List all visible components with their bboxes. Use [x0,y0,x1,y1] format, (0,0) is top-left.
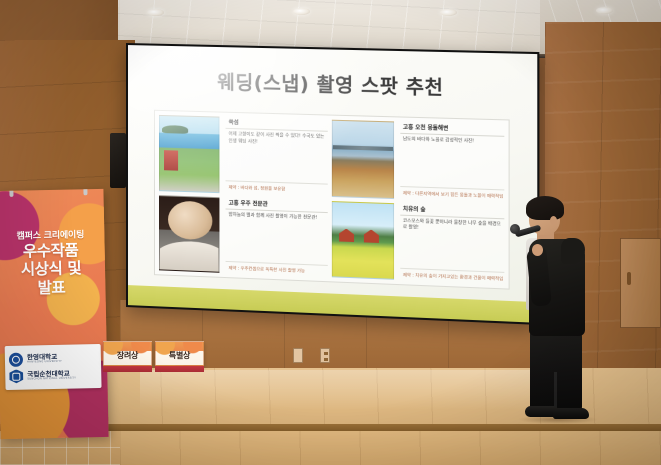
award-placard: 장려상 [103,341,152,366]
slide-content-grid: 쑥섬 어제 고향이도 같이 사진 찍을 수 있다! 수국도 있는 인생 웨딩 사… [154,110,510,290]
university-logo-text: 한영대학교 HANYEONG UNIVERSITY [27,354,62,364]
slide-cell-note: 제약 : 다른지역에서 보기 힘든 몽돌과 노을이 매력적임 [400,187,505,202]
slide-cell: 쑥섬 어제 고향이도 같이 사진 찍을 수 있다! 수국도 있는 인생 웨딩 사… [159,115,327,196]
slide-title: 웨딩(스냅) 촬영 스팟 추천 [128,65,537,103]
presenter [505,196,597,428]
award-placard-stand [103,366,152,372]
banner-logo-strip: 한영대학교 HANYEONG UNIVERSITY 국립순천대학교 SUNCHO… [5,344,102,390]
banner-hook-icon [83,189,87,195]
slide-cell: 고흥 오천 몽돌해변 남도의 바다와 노을로 감성적인 사진! 제약 : 다른지… [331,120,504,203]
award-placard: 특별상 [155,341,204,366]
wall-speaker-icon [110,133,126,188]
slide-cell-body: 어제 고향이도 같이 사진 찍을 수 있다! 수국도 있는 인생 웨딩 사진! [226,129,328,185]
university-name-en: HANYEONG UNIVERSITY [27,360,62,363]
university-name-en: SUNCHON NATIONAL UNIVERSITY [27,377,76,381]
presenter-ear [550,216,557,225]
moon-observatory-photo [159,195,219,273]
slide-cell-note: 제약 : 바다와 섬, 정원을 보유함 [226,181,328,196]
award-placard-stand [155,366,204,372]
slide-cell: 고흥 우주 전문관 밤하늘의 별과 함께 사진 촬영이 가능한 천문관! 제약 … [159,195,327,277]
projected-slide: 웨딩(스냅) 촬영 스팟 추천 쑥섬 어제 고향이도 같이 사진 찍을 수 있다… [128,45,537,323]
ceiling-light-icon [596,7,613,14]
slide-cell-text: 치유의 숲 코스모스와 들꽃 뿐아니라 울창한 나무 숲을 배경으로 촬영! 제… [398,203,505,284]
banner-hook-icon [9,189,13,197]
hanyeong-emblem-icon [9,352,23,366]
ceiling-light-icon [293,8,310,15]
banner-subtitle: 캠퍼스 크리에이팅 [0,227,104,242]
slide-cell-body: 밤하늘의 별과 함께 사진 촬영이 가능한 천문관! [226,209,328,266]
projection-screen: 웨딩(스냅) 촬영 스팟 추천 쑥섬 어제 고향이도 같이 사진 찍을 수 있다… [126,43,539,325]
slide-cell: 치유의 숲 코스모스와 들꽃 뿐아니라 울창한 나무 숲을 배경으로 촬영! 제… [331,201,504,285]
slide-cell-text: 고흥 오천 몽돌해변 남도의 바다와 노을로 감성적인 사진! 제약 : 다른지… [398,122,505,203]
door-handle-icon[interactable] [627,272,631,285]
light-switch-icon[interactable] [293,348,303,363]
award-placard-label: 특별상 [169,350,190,361]
banner-title: 우수작품 시상식 및 발표 [0,241,106,298]
event-banner: 캠퍼스 크리에이팅 우수작품 시상식 및 발표 한영대학교 HANYEONG U… [0,189,109,439]
presenter-hand [532,244,543,256]
pebble-beach-sunset-photo [331,120,393,199]
slide-cell-body: 남도의 바다와 노을로 감성적인 사진! [400,134,505,191]
slide-cell-body: 코스모스와 들꽃 뿐아니라 울창한 나무 숲을 배경으로 촬영! [400,215,505,272]
slide-cell-text: 고흥 우주 전문관 밤하늘의 별과 함께 사진 촬영이 가능한 천문관! 제약 … [224,197,328,277]
ceiling-light-icon [147,9,164,16]
power-outlet-icon [320,348,330,363]
auditorium-scene: 웨딩(스냅) 촬영 스팟 추천 쑥섬 어제 고향이도 같이 사진 찍을 수 있다… [0,0,661,465]
presenter-shoe-right [553,408,589,419]
slide-cell-text: 쑥섬 어제 고향이도 같이 사진 찍을 수 있다! 수국도 있는 인생 웨딩 사… [224,117,328,197]
presenter-hair [526,196,564,220]
award-placard-label: 장려상 [117,350,138,361]
university-logo: 국립순천대학교 SUNCHON NATIONAL UNIVERSITY [9,368,97,384]
island-sea-garden-photo [159,115,219,193]
ceiling-light-icon [440,9,457,16]
forest-cabins-flower-field-photo [331,201,393,280]
university-logo-text: 국립순천대학교 SUNCHON NATIONAL UNIVERSITY [27,370,76,380]
sunchon-emblem-icon [9,369,23,383]
university-logo: 한영대학교 HANYEONG UNIVERSITY [9,351,97,367]
microphone-head-icon [510,224,520,234]
